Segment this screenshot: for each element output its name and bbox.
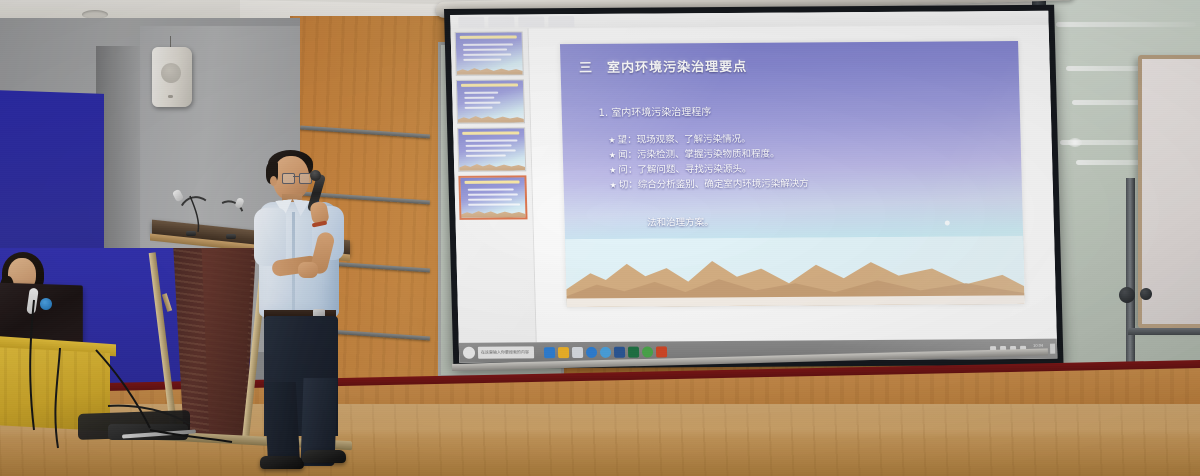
- word-icon[interactable]: [614, 346, 625, 357]
- star-icon: ★: [608, 136, 615, 145]
- photos-icon[interactable]: [600, 346, 611, 357]
- powerpoint-window: 三 室内环境污染治理要点 1. 室内环境污染治理程序 ★望：现场观察、了解污染情…: [450, 11, 1057, 363]
- laptop-logo-icon: [40, 298, 52, 310]
- store-icon[interactable]: [572, 346, 583, 357]
- show-desktop-button[interactable]: [1050, 344, 1055, 354]
- presenter-shoe-right: [302, 450, 346, 463]
- ceiling-light-reflection: [1068, 138, 1082, 147]
- slide-bullet-list: ★望：现场观察、了解污染情况。 ★闻：污染检测、掌握污染物质和程度。 ★问：了解…: [608, 130, 1003, 193]
- slide-bullet: ★切：综合分析鉴别、确定室内环境污染解决方: [609, 175, 1003, 193]
- start-button-icon[interactable]: [463, 347, 475, 359]
- speaker-grill: [161, 63, 181, 83]
- mic-base: [226, 234, 236, 239]
- glasses-icon: [282, 173, 311, 182]
- slide-editing-area[interactable]: 三 室内环境污染治理要点 1. 室内环境污染治理程序 ★望：现场观察、了解污染情…: [529, 25, 1057, 343]
- presenter-shoe-left: [260, 456, 304, 469]
- presenter-leg-left: [264, 382, 300, 466]
- current-slide: 三 室内环境污染治理要点 1. 室内环境污染治理程序 ★望：现场观察、了解污染情…: [560, 41, 1025, 308]
- speaker-led: [168, 95, 173, 98]
- star-icon: ★: [609, 151, 616, 160]
- screen-surface: 三 室内环境污染治理要点 1. 室内环境污染治理程序 ★望：现场观察、了解污染情…: [450, 11, 1057, 363]
- whiteboard-tray: [1128, 328, 1200, 335]
- ribbon-tab[interactable]: [548, 16, 574, 27]
- star-icon: ★: [610, 181, 617, 190]
- slide-thumbnail-active[interactable]: [458, 175, 527, 219]
- lecture-hall-photo: 三 室内环境污染治理要点 1. 室内环境污染治理程序 ★望：现场观察、了解污染情…: [0, 0, 1200, 476]
- whiteboard: [1138, 55, 1200, 328]
- taskbar-search-box[interactable]: 在这里输入你要搜索的内容: [478, 346, 534, 358]
- wechat-icon[interactable]: [642, 346, 653, 357]
- presenter: [240, 150, 370, 470]
- file-explorer-icon[interactable]: [558, 347, 569, 358]
- ribbon-tab[interactable]: [488, 17, 514, 28]
- mountain-graphic: [565, 236, 1024, 308]
- mail-icon[interactable]: [586, 346, 597, 357]
- mic-base: [186, 231, 196, 236]
- slide-thumbnail-panel[interactable]: [451, 28, 537, 342]
- ribbon-tab[interactable]: [458, 17, 484, 28]
- presenter-hand-lower: [298, 262, 318, 278]
- whiteboard-knob[interactable]: [1119, 287, 1135, 303]
- excel-icon[interactable]: [628, 346, 639, 357]
- slide-thumbnail[interactable]: [456, 79, 525, 123]
- presenter-ear: [270, 176, 277, 186]
- slide-thumbnail[interactable]: [457, 127, 526, 171]
- slide-subtitle: 1. 室内环境污染治理程序: [598, 101, 1001, 119]
- taskbar-pinned-apps[interactable]: [544, 346, 667, 358]
- slide-title: 三 室内环境污染治理要点: [579, 54, 1001, 76]
- projection-screen: 三 室内环境污染治理要点 1. 室内环境污染治理程序 ★望：现场观察、了解污染情…: [444, 5, 1064, 369]
- star-icon: ★: [609, 166, 616, 175]
- slide-bullet-continuation: 法和治理方案。: [647, 214, 714, 228]
- shirt-sleeve-left: [254, 208, 286, 266]
- wall-speaker-icon: [152, 47, 192, 107]
- powerpoint-icon[interactable]: [656, 346, 667, 357]
- whiteboard-knob[interactable]: [1140, 288, 1152, 300]
- ribbon-tab[interactable]: [518, 16, 544, 27]
- sun-icon: [944, 221, 949, 226]
- browser-icon[interactable]: [544, 347, 555, 358]
- slide-thumbnail[interactable]: [455, 31, 524, 75]
